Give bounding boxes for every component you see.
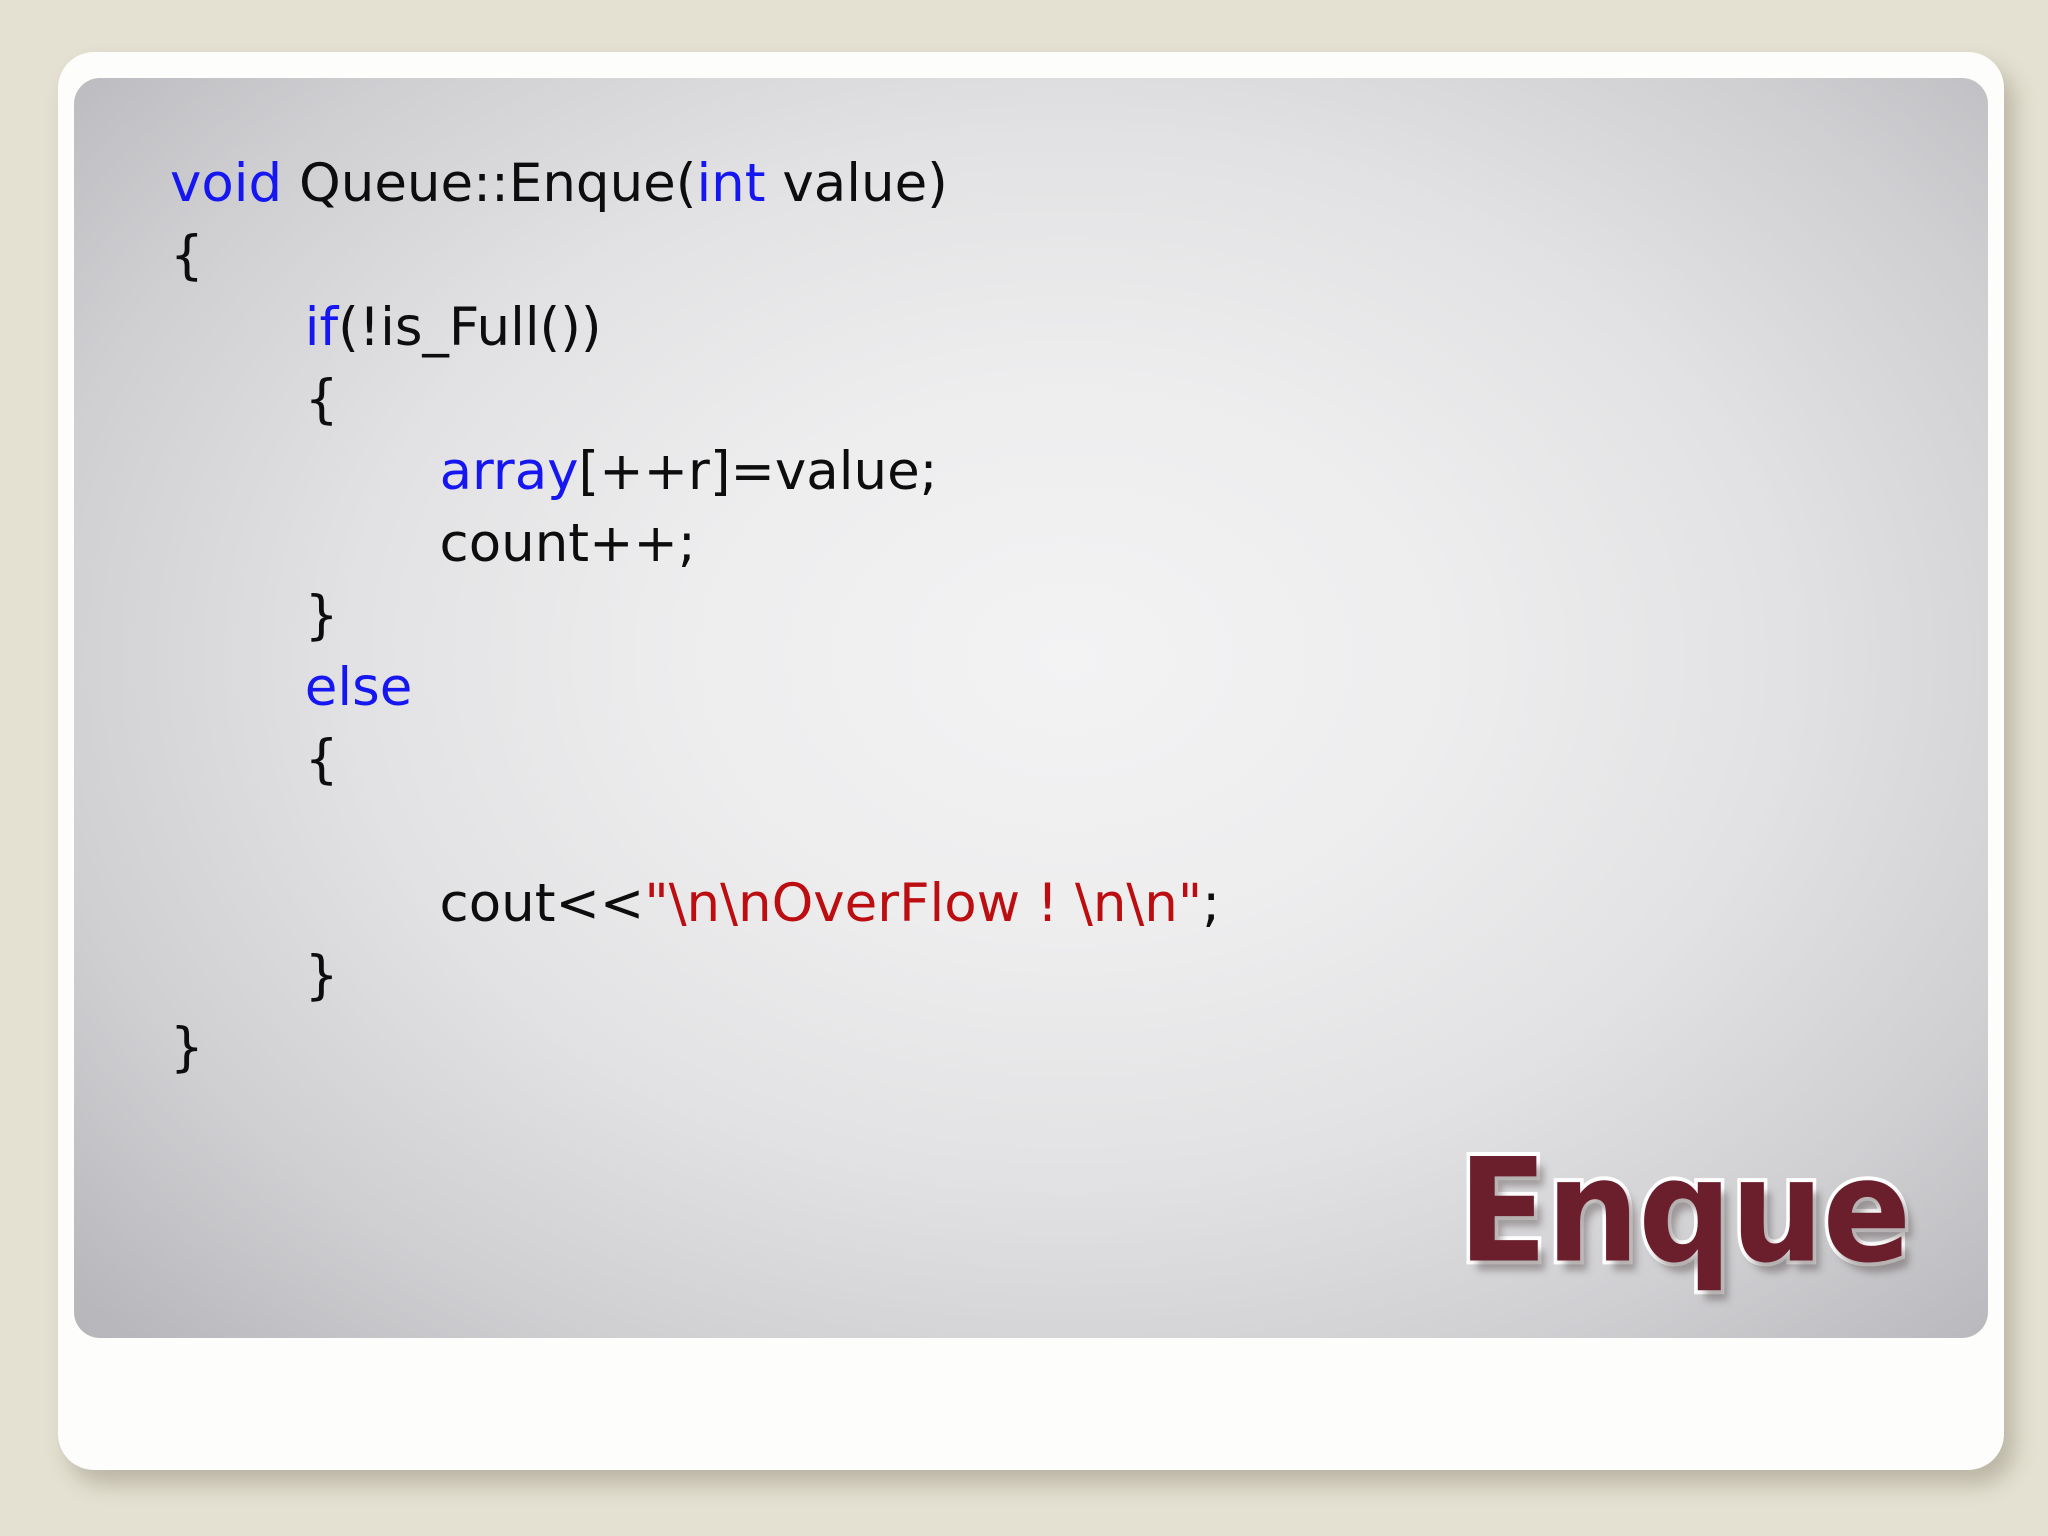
code-token-plain <box>170 657 305 718</box>
code-token-plain <box>170 801 187 862</box>
slide-card: void Queue::Enque(int value){ if(!is_Ful… <box>58 52 2004 1470</box>
code-token-string: "\n\nOverFlow ! \n\n" <box>644 873 1202 934</box>
slide-title: Enque <box>1458 1141 1910 1284</box>
line-close-brace-else: } <box>170 940 1948 1012</box>
code-token-plain: } <box>170 945 339 1006</box>
line-signature: void Queue::Enque(int value) <box>170 148 1948 220</box>
code-token-plain: (!is_Full()) <box>338 297 601 358</box>
code-token-plain <box>170 297 305 358</box>
line-count-inc: count++; <box>170 508 1948 580</box>
code-token-plain: [++r]=value; <box>579 441 938 502</box>
code-token-plain: { <box>170 225 204 286</box>
code-token-plain: } <box>170 585 339 646</box>
code-token-keyword: void <box>170 153 282 214</box>
code-token-plain: value) <box>766 153 948 214</box>
line-array-assign: array[++r]=value; <box>170 436 1948 508</box>
code-token-plain: Queue::Enque( <box>282 153 696 214</box>
code-token-keyword: if <box>305 297 338 358</box>
line-if: if(!is_Full()) <box>170 292 1948 364</box>
code-token-plain: } <box>170 1017 204 1078</box>
line-open-brace-else: { <box>170 724 1948 796</box>
code-token-plain: ; <box>1202 873 1220 934</box>
code-token-keyword: array <box>440 441 579 502</box>
line-open-brace-if: { <box>170 364 1948 436</box>
line-blank-1 <box>170 796 1948 868</box>
code-token-plain: { <box>170 369 339 430</box>
code-token-plain <box>170 441 440 502</box>
line-else: else <box>170 652 1948 724</box>
line-close-brace-func: } <box>170 1012 1948 1084</box>
code-block: void Queue::Enque(int value){ if(!is_Ful… <box>170 148 1948 1084</box>
slide-content-panel: void Queue::Enque(int value){ if(!is_Ful… <box>74 78 1988 1338</box>
code-token-keyword: int <box>696 153 765 214</box>
line-cout-overflow: cout<<"\n\nOverFlow ! \n\n"; <box>170 868 1948 940</box>
line-close-brace-if: } <box>170 580 1948 652</box>
line-open-brace-func: { <box>170 220 1948 292</box>
code-token-plain: cout<< <box>170 873 644 934</box>
code-token-plain: { <box>170 729 339 790</box>
code-token-keyword: else <box>305 657 413 718</box>
code-token-plain: count++; <box>170 513 696 574</box>
